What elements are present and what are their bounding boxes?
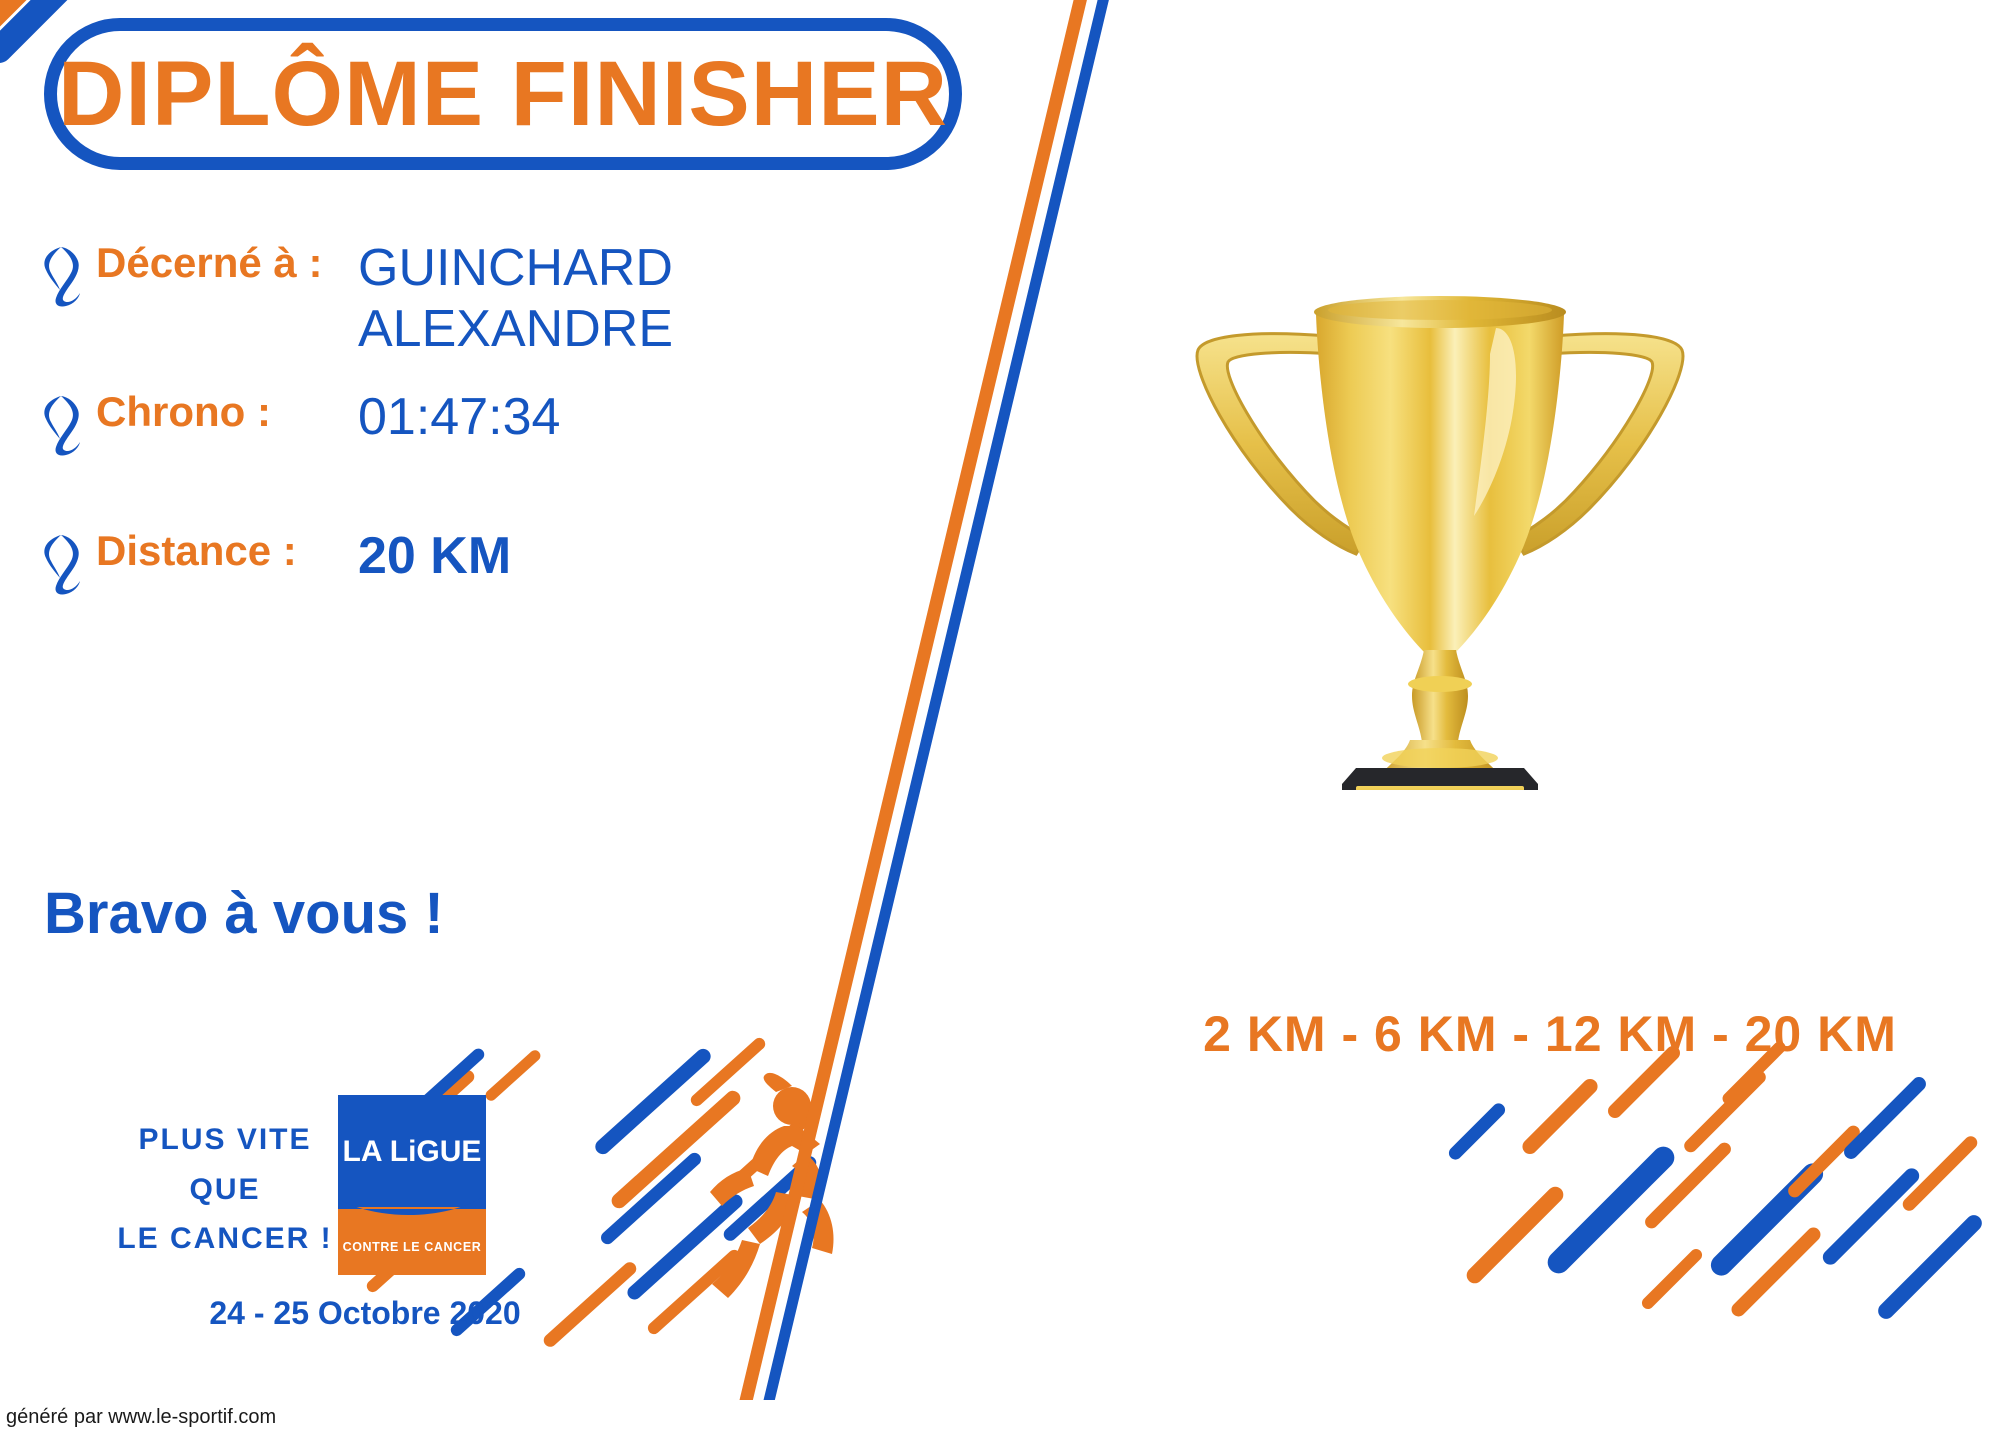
trophy-bowl — [1316, 314, 1564, 654]
detail-value-recipient: GUINCHARD ALEXANDRE — [358, 238, 673, 361]
stripe — [1639, 1246, 1704, 1311]
stripe — [1820, 1165, 1923, 1268]
campaign-slogan: PLUS VITE QUE LE CANCER ! — [90, 1115, 360, 1264]
stripe — [1841, 1074, 1929, 1162]
chrono-time: 01:47:34 — [358, 387, 560, 448]
decorative-stripes-bottom-right — [1420, 1059, 2000, 1439]
stripe — [1875, 1212, 1985, 1322]
award-details: Décerné à : GUINCHARD ALEXANDRE Chrono :… — [40, 238, 920, 629]
detail-row-distance: Distance : 20 KM — [40, 526, 920, 603]
stripe — [1729, 1225, 1824, 1320]
slogan-line-1: PLUS VITE — [90, 1115, 360, 1165]
divider-line-blue — [768, 0, 1108, 1405]
trophy-stem — [1412, 650, 1468, 742]
detail-label: Décerné à : — [96, 238, 358, 288]
slogan-line-3: LE CANCER ! — [90, 1214, 360, 1264]
ribbon-icon — [40, 387, 96, 464]
stripe — [1642, 1140, 1733, 1231]
detail-value-chrono: 01:47:34 — [358, 387, 560, 448]
stripe — [1785, 1123, 1862, 1200]
stripe — [1463, 1183, 1566, 1286]
ribbon-icon — [40, 238, 96, 315]
diploma-title-box: DIPLÔME FINISHER — [44, 18, 962, 170]
recipient-lastname: GUINCHARD — [358, 238, 673, 299]
stripe — [1707, 1159, 1828, 1280]
page-title: DIPLÔME FINISHER — [58, 48, 948, 140]
event-date: 24 - 25 Octobre 2020 — [150, 1295, 580, 1332]
trophy-plaque — [1356, 786, 1524, 790]
stripe — [1682, 1068, 1769, 1155]
detail-row-chrono: Chrono : 01:47:34 — [40, 387, 920, 464]
logo-brand-bottom: CONTRE LE CANCER — [343, 1240, 482, 1254]
congratulations-text: Bravo à vous ! — [44, 880, 444, 947]
distance-value: 20 KM — [358, 526, 511, 587]
detail-value-distance: 20 KM — [358, 526, 511, 587]
stripe — [1519, 1076, 1600, 1157]
stripe — [1900, 1134, 1980, 1214]
recipient-firstname: ALEXANDRE — [358, 299, 673, 360]
footer-bar: généré par www.le-sportif.com — [0, 1400, 2000, 1439]
generated-by-text: généré par www.le-sportif.com — [6, 1406, 276, 1429]
race-distances: 2 KM - 6 KM - 12 KM - 20 KM — [1120, 1005, 1980, 1063]
detail-label: Chrono : — [96, 387, 358, 437]
la-ligue-logo: LA LiGUE CONTRE LE CANCER — [338, 1095, 486, 1275]
detail-label: Distance : — [96, 526, 358, 576]
stripe — [1446, 1101, 1508, 1163]
detail-row-recipient: Décerné à : GUINCHARD ALEXANDRE — [40, 238, 920, 361]
trophy-icon — [1160, 250, 1720, 790]
ribbon-icon — [40, 526, 96, 603]
divider-line-orange — [745, 0, 1085, 1405]
slogan-line-2: QUE — [90, 1165, 360, 1215]
diploma-page: DIPLÔME FINISHER Décerné à : GUINCHARD A… — [0, 0, 2000, 1439]
logo-brand-top: LA LiGUE — [343, 1135, 482, 1168]
stripe — [1543, 1142, 1679, 1278]
sponsor-logo-lockup: PLUS VITE QUE LE CANCER ! LA LiGUE CONTR… — [90, 1095, 770, 1375]
